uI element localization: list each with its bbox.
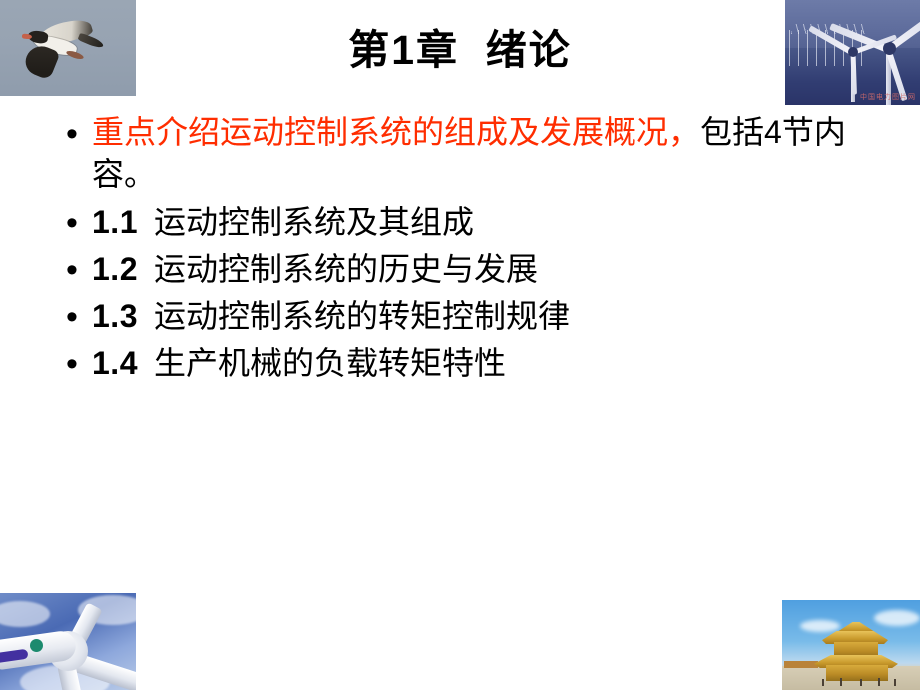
pavilion-visitor-2: [840, 678, 842, 686]
section-number: 1.4: [92, 345, 138, 381]
section-label: 运动控制系统及其组成: [154, 204, 474, 240]
section-text: 1.2运动控制系统的历史与发展: [92, 248, 862, 291]
pavilion-visitor-1: [822, 679, 824, 686]
section-number: 1.3: [92, 298, 138, 334]
section-item-1-3[interactable]: • 1.3运动控制系统的转矩控制规律: [62, 295, 862, 340]
section-text: 1.3运动控制系统的转矩控制规律: [92, 295, 862, 338]
pavilion-visitor-5: [894, 679, 896, 686]
section-item-1-4[interactable]: • 1.4生产机械的负载转矩特性: [62, 342, 862, 387]
watermark-text: 中国电力图片网: [860, 92, 916, 102]
bullet-marker-icon: •: [62, 342, 92, 387]
bullet-marker-icon: •: [62, 248, 92, 293]
pavilion-side-wall: [784, 661, 818, 668]
slide-title: 第1章 绪论: [0, 28, 920, 74]
intro-text: 重点介绍运动控制系统的组成及发展概况，包括4节内容。: [92, 112, 862, 195]
pavilion-cloud-2: [874, 610, 920, 626]
section-label: 运动控制系统的转矩控制规律: [154, 298, 570, 334]
nacelle-logo-icon: [30, 639, 43, 652]
intro-bullet-item: • 重点介绍运动控制系统的组成及发展概况，包括4节内容。: [62, 112, 862, 195]
section-item-1-1[interactable]: • 1.1运动控制系统及其组成: [62, 201, 862, 246]
presentation-slide: 中国电力图片网 第1章 绪论 •: [0, 0, 920, 690]
bullet-marker-icon: •: [62, 112, 92, 157]
chinese-pavilion-photo: [782, 600, 920, 690]
wind-turbine-nacelle-photo: [0, 593, 136, 690]
bullet-marker-icon: •: [62, 201, 92, 246]
section-number: 1.1: [92, 204, 138, 240]
pavilion-visitor-4: [878, 678, 880, 686]
section-label: 运动控制系统的历史与发展: [154, 251, 538, 287]
section-label: 生产机械的负载转矩特性: [154, 345, 506, 381]
section-text: 1.1运动控制系统及其组成: [92, 201, 862, 244]
section-item-1-2[interactable]: • 1.2运动控制系统的历史与发展: [62, 248, 862, 293]
bullet-marker-icon: •: [62, 295, 92, 340]
section-number: 1.2: [92, 251, 138, 287]
cloud-shape-1: [0, 601, 50, 627]
slide-body: • 重点介绍运动控制系统的组成及发展概况，包括4节内容。 • 1.1运动控制系统…: [62, 112, 862, 389]
intro-highlight-text: 重点介绍运动控制系统的组成及发展概况，: [92, 114, 700, 150]
pavilion-cloud-1: [800, 620, 840, 632]
pavilion-visitor-3: [860, 679, 862, 686]
section-text: 1.4生产机械的负载转矩特性: [92, 342, 862, 385]
